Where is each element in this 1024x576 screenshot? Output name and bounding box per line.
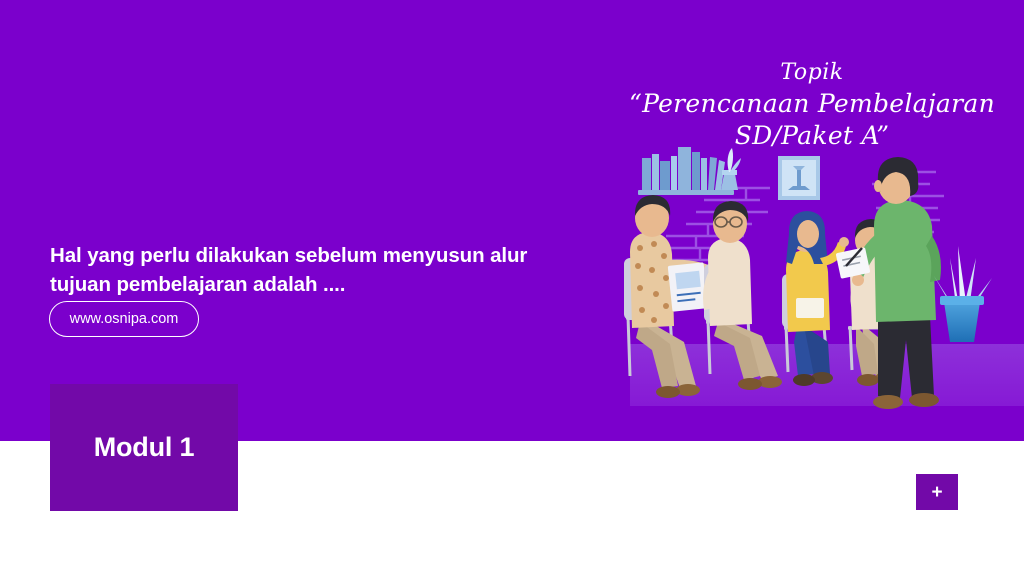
question-text: Hal yang perlu dilakukan sebelum menyusu… [50, 241, 590, 299]
plus-icon: + [931, 483, 942, 502]
slide-canvas: Topik “Perencanaan Pembelajaran SD/Paket… [0, 0, 1024, 576]
classroom-discussion-illustration [600, 130, 1024, 441]
purple-stage: Topik “Perencanaan Pembelajaran SD/Paket… [0, 0, 1024, 441]
website-url-badge[interactable]: www.osnipa.com [49, 301, 199, 337]
plus-icon-button[interactable]: + [916, 474, 958, 510]
framed-wall-picture [778, 156, 820, 200]
floor-potted-plant [934, 246, 992, 342]
module-badge: Modul 1 [50, 384, 238, 511]
bookshelf-with-books [638, 147, 734, 195]
topic-label: Topik [600, 60, 1024, 86]
